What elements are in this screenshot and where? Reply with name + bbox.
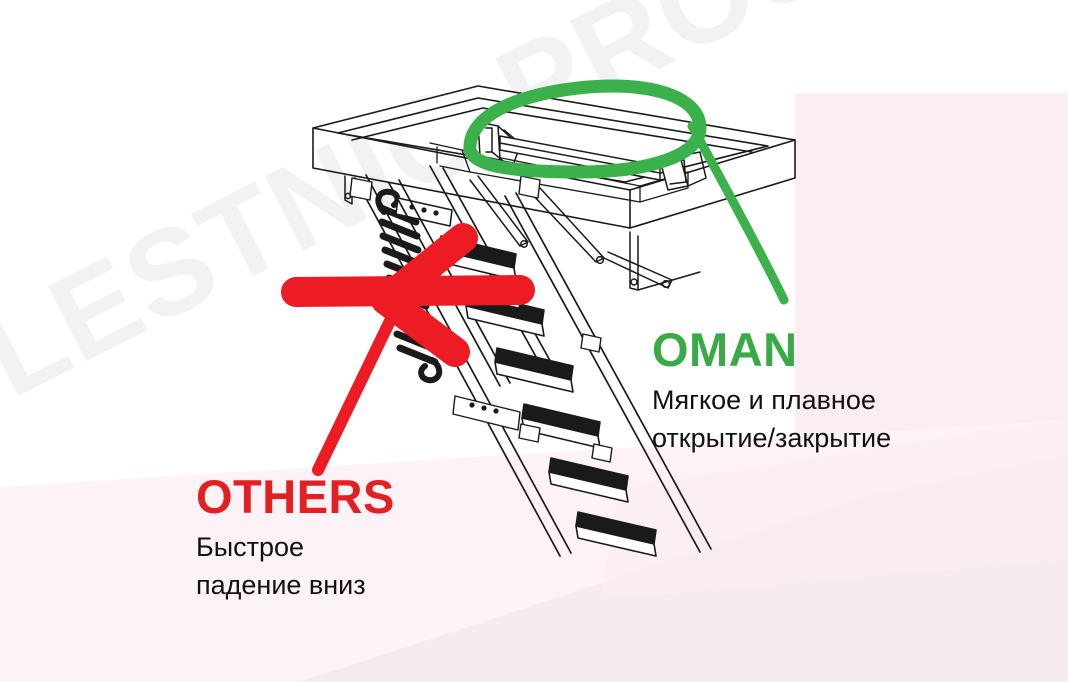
callout-oman-title: OMAN (652, 326, 891, 375)
callout-others: OTHERS Быстрое падение вниз (196, 473, 395, 605)
callout-oman: OMAN Мягкое и плавное открытие/закрытие (652, 326, 891, 458)
callout-others-title: OTHERS (196, 473, 395, 522)
red-arrow-tail (318, 296, 402, 470)
callout-others-subtitle: Быстрое падение вниз (196, 528, 395, 605)
red-arrow-annotation (0, 0, 1068, 682)
comparison-infographic: LESTNIC-PROSTO.RU (0, 0, 1068, 682)
callout-oman-subtitle: Мягкое и плавное открытие/закрытие (652, 381, 891, 458)
